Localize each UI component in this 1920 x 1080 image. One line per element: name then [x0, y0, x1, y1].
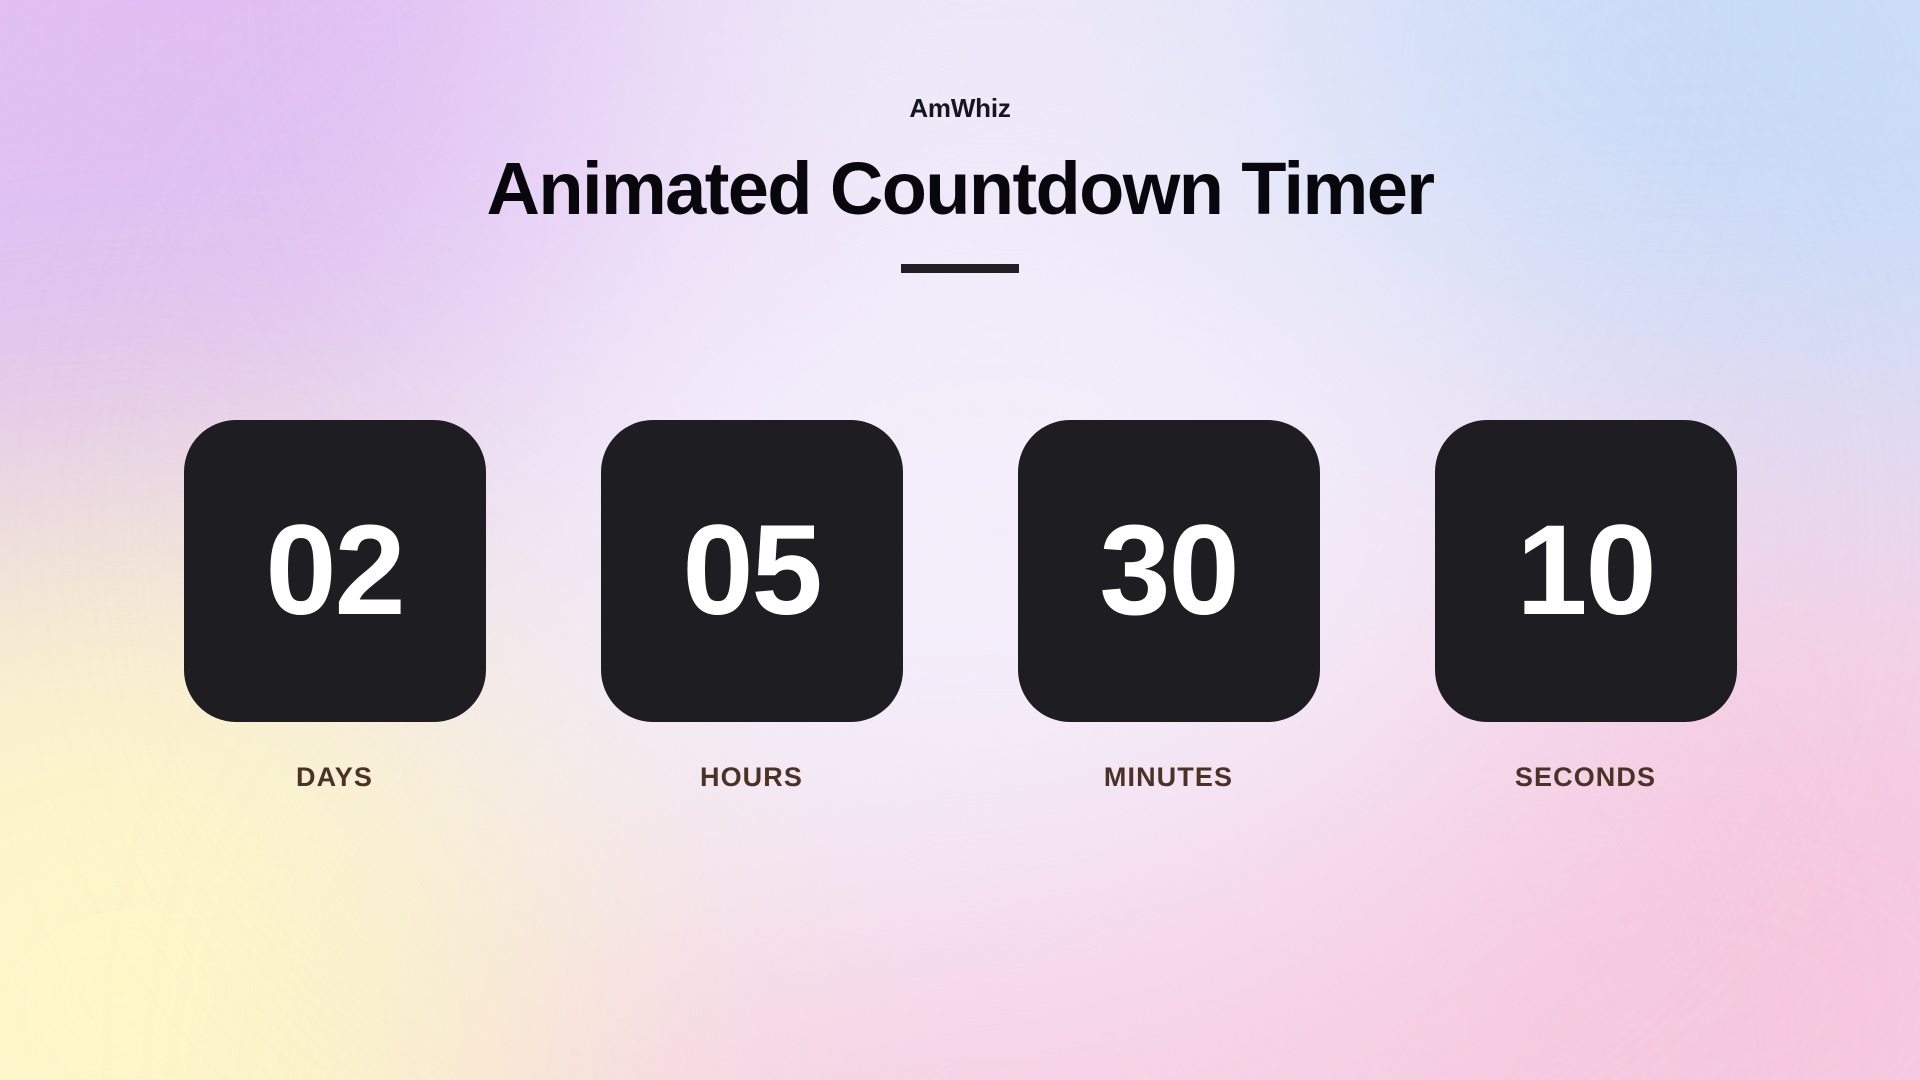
brand-name: AmWhiz [909, 95, 1010, 121]
timer-value-seconds: 10 [1516, 507, 1654, 635]
timer-value-days: 02 [265, 507, 403, 635]
timer-box-days: 02 [184, 420, 486, 722]
timer-unit-days: 02 DAYS [184, 420, 486, 791]
title-divider [901, 264, 1019, 273]
timer-box-minutes: 30 [1018, 420, 1320, 722]
timer-box-hours: 05 [601, 420, 903, 722]
timer-unit-minutes: 30 MINUTES [1018, 420, 1320, 791]
timer-label-minutes: MINUTES [1104, 764, 1233, 791]
timer-label-days: DAYS [296, 764, 373, 791]
timer-label-seconds: SECONDS [1515, 764, 1656, 791]
timer-label-hours: HOURS [700, 764, 803, 791]
countdown-page: AmWhiz Animated Countdown Timer 02 DAYS … [0, 0, 1920, 1080]
timer-unit-seconds: 10 SECONDS [1435, 420, 1737, 791]
page-title: Animated Countdown Timer [487, 150, 1434, 228]
timer-unit-hours: 05 HOURS [601, 420, 903, 791]
timer-box-seconds: 10 [1435, 420, 1737, 722]
timer-value-minutes: 30 [1099, 507, 1237, 635]
timer-value-hours: 05 [682, 507, 820, 635]
countdown-timer: 02 DAYS 05 HOURS 30 MINUTES 10 SECONDS [184, 420, 1737, 791]
